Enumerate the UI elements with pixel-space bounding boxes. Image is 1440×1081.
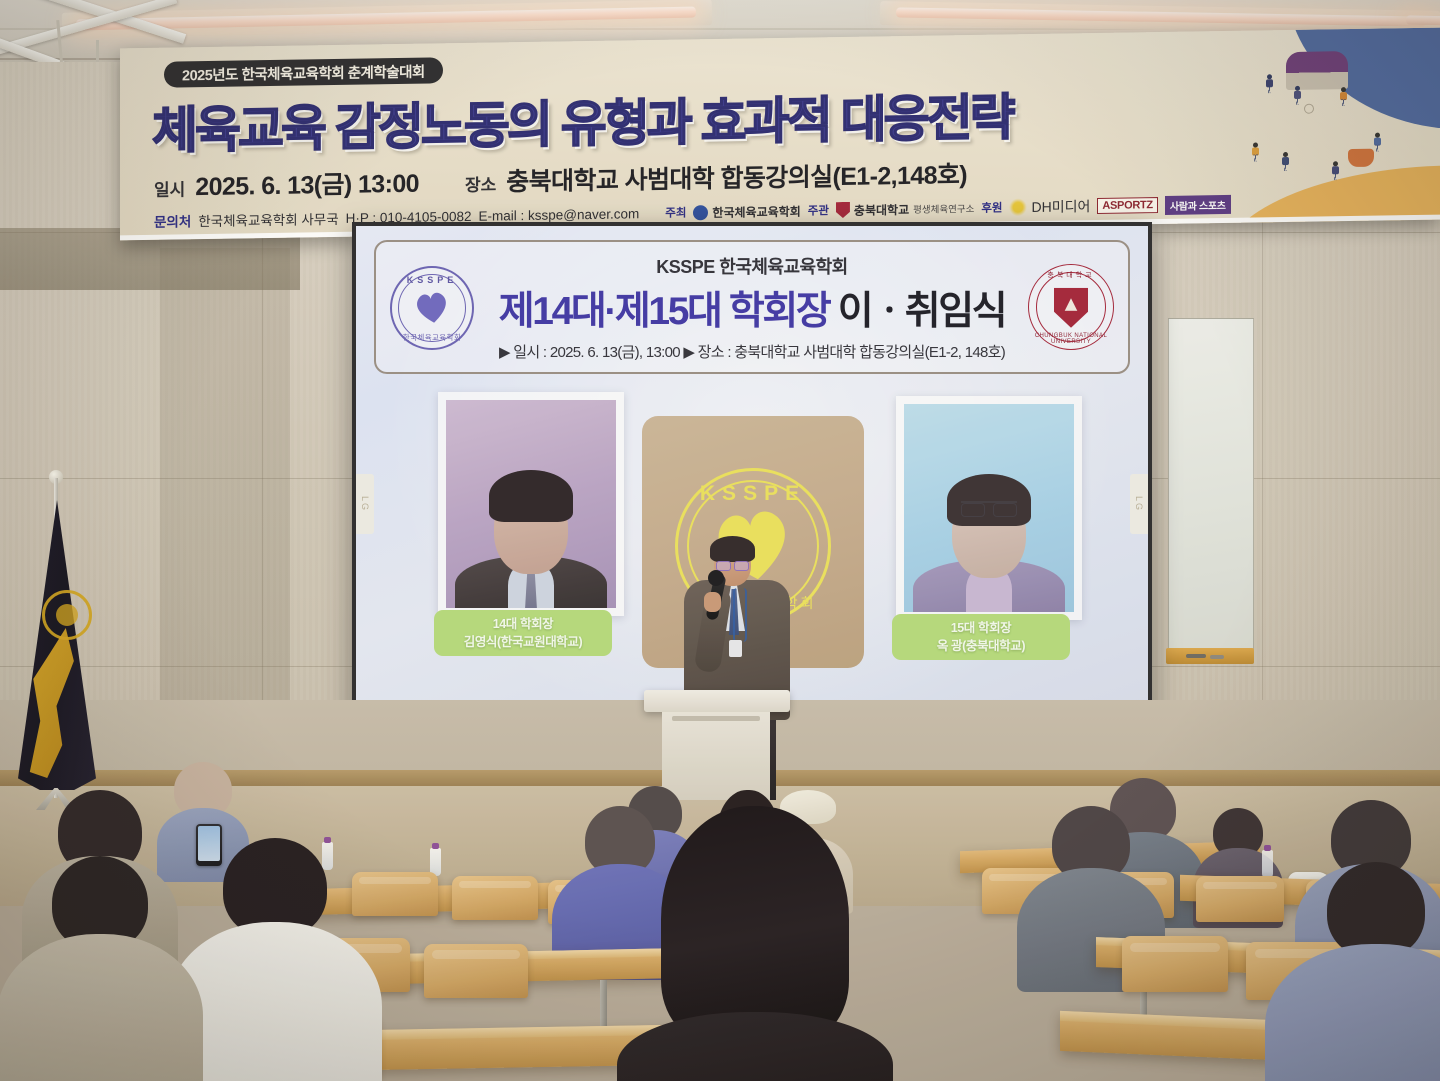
banner-sponsor-3: 사람과 스포츠 xyxy=(1165,194,1231,214)
banner-place-label: 장소 xyxy=(465,170,496,195)
banner-date-value: 2025. 6. 13(금) 13:00 xyxy=(195,164,419,204)
slide-title-part2: 이ㆍ취임식 xyxy=(838,290,1005,333)
audience-member xyxy=(1276,862,1440,1081)
banner-sponsor-2: ASPORTZ xyxy=(1097,197,1157,214)
organizer-logo-chip: 충북대학교 평생체육연구소 xyxy=(836,199,974,218)
banner-subtitle-pill: 2025년도 한국체육교육학회 춘계학술대회 xyxy=(164,57,443,87)
banner-sponsor-label: 후원 xyxy=(981,200,1002,216)
caption-name: 옥 광(충북대학교) xyxy=(937,637,1025,655)
water-bottle xyxy=(1262,850,1273,878)
audience-member xyxy=(10,856,190,1081)
banner-contact-org: 한국체육교육학회 사무국 xyxy=(198,208,338,230)
ceiling-light xyxy=(1406,15,1440,25)
slide-kicker: KSSPE 한국체육교육학회 xyxy=(376,253,1128,279)
ksspe-large-logo-top-text: KSSPE xyxy=(678,482,828,506)
person-hair xyxy=(661,806,849,1042)
speaker-glasses-icon xyxy=(716,561,749,569)
seat xyxy=(452,876,538,920)
caption-15th-president: 15대 학회장 옥 광(충북대학교) xyxy=(892,614,1070,660)
slide-title-box: KSSPE 한국체육교육학회 KSSPE 한국체육교육학회 제14대·제15대 … xyxy=(374,240,1130,374)
speaker-hair xyxy=(710,536,755,562)
banner-illustration xyxy=(1228,28,1440,223)
event-banner: 2025년도 한국체육교육학회 춘계학술대회 체육교육 감정노동의 유형과 효과… xyxy=(120,28,1440,241)
banner-host-value: 한국체육교육학회 xyxy=(712,202,800,220)
banner-organizer-sub: 평생체육연구소 xyxy=(913,201,974,216)
banner-email: E-mail : ksspe@naver.com xyxy=(478,206,639,224)
host-logo-chip: 한국체육교육학회 xyxy=(693,202,800,221)
banner-title: 체육교육 감정노동의 유형과 효과적 대응전략 xyxy=(152,77,1013,163)
seat xyxy=(1122,936,1228,992)
seat xyxy=(1196,876,1284,922)
microphone-head-icon xyxy=(708,570,724,586)
whiteboard-marker xyxy=(1210,655,1224,659)
cbnu-seal-bottom-text: CHUNGBUK NATIONAL UNIVERSITY xyxy=(1029,333,1113,345)
seat xyxy=(424,944,528,998)
conference-photo: 2025년도 한국체육교육학회 춘계학술대회 체육교육 감정노동의 유형과 효과… xyxy=(0,0,1440,1081)
slide-title-part1: 제14대·제15대 학회장 xyxy=(499,290,830,333)
sun-icon xyxy=(1009,198,1027,216)
speaker-name-badge xyxy=(729,640,742,657)
cbnu-seal-top-text: 충북대학교 xyxy=(1029,270,1113,280)
portrait-photo xyxy=(446,400,616,608)
caption-role: 14대 학회장 xyxy=(493,615,554,633)
sponsor-1-chip: DH미디어 xyxy=(1009,196,1090,217)
person-shoulders xyxy=(1265,944,1440,1081)
portrait-hair xyxy=(489,470,573,522)
ksspe-dot-icon xyxy=(693,205,708,220)
podium-top xyxy=(644,690,790,712)
person-shoulders xyxy=(0,934,203,1081)
portrait-15th-president xyxy=(896,396,1082,620)
caption-14th-president: 14대 학회장 김영식(한국교원대학교) xyxy=(434,610,612,656)
audience-member xyxy=(180,838,370,1081)
banner-art-tent-icon xyxy=(1286,51,1348,90)
banner-sponsor-1: DH미디어 xyxy=(1031,196,1090,217)
portrait-hair xyxy=(947,474,1031,526)
banner-date-label: 일시 xyxy=(154,175,185,200)
banner-place-value: 충북대학교 사범대학 합동강의실(E1-2,148호) xyxy=(506,155,967,198)
portrait-14th-president xyxy=(438,392,624,616)
banner-organizer-value: 충북대학교 xyxy=(854,200,909,218)
screen-brand-tab-right: LG xyxy=(1130,474,1148,534)
caption-role: 15대 학회장 xyxy=(951,619,1012,637)
banner-art-ball-icon xyxy=(1304,104,1314,114)
portrait-photo xyxy=(904,404,1074,612)
screen-brand-tab-left: LG xyxy=(356,474,374,534)
slide-title: 제14대·제15대 학회장 이ㆍ취임식 xyxy=(376,280,1128,336)
banner-datetime-row: 일시 2025. 6. 13(금) 13:00 장소 충북대학교 사범대학 합동… xyxy=(154,155,967,204)
person-shoulders xyxy=(617,1012,893,1081)
slide-meta: ▶ 일시 : 2025. 6. 13(금), 13:00 ▶ 장소 : 충북대학… xyxy=(376,341,1128,362)
wall-recess xyxy=(160,248,290,718)
cbnu-seal-icon: 충북대학교 CHUNGBUK NATIONAL UNIVERSITY xyxy=(1028,264,1114,350)
caption-name: 김영식(한국교원대학교) xyxy=(464,633,583,651)
podium-shelf-slot xyxy=(672,716,760,721)
portrait-glasses-icon xyxy=(961,501,1017,516)
whiteboard-marker xyxy=(1186,654,1206,658)
whiteboard xyxy=(1168,318,1254,650)
flag-emblem-icon xyxy=(42,590,92,640)
banner-contact-label: 문의처 xyxy=(154,210,191,231)
speaker-lanyard xyxy=(733,588,747,642)
audience-member-foreground xyxy=(630,806,880,1081)
banner-organizer-label: 주관 xyxy=(808,202,829,218)
banner-host-label: 주최 xyxy=(665,204,686,220)
cbnu-shield-icon xyxy=(836,202,850,218)
banner-art-drum-icon xyxy=(1348,149,1374,167)
speaker-hand xyxy=(704,592,721,612)
